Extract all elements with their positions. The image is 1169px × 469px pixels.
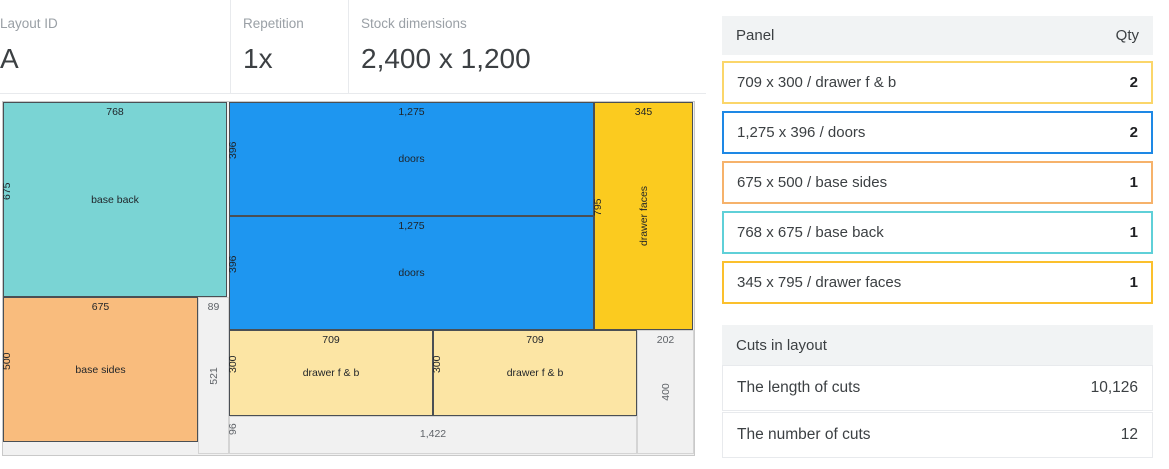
- layout-id-label: Layout ID: [0, 8, 230, 33]
- part-width-label: 768: [4, 106, 226, 118]
- part-name-label: base back: [4, 194, 226, 206]
- panel-qty: 2: [1130, 124, 1138, 141]
- layout-part-drawer-faces[interactable]: 345 795 drawer faces: [594, 102, 693, 330]
- panel-label: 709 x 300 / drawer f & b: [737, 74, 1130, 91]
- part-name-label: doors: [230, 153, 593, 165]
- part-width-label: 1,275: [230, 220, 593, 232]
- waste-width-label: 1,422: [230, 428, 636, 440]
- panel-row-doors[interactable]: 1,275 x 396 / doors 2: [722, 111, 1153, 154]
- repetition-label: Repetition: [243, 8, 348, 33]
- panel-label: 675 x 500 / base sides: [737, 174, 1130, 191]
- panel-table-header: Panel Qty: [722, 16, 1153, 55]
- waste-strip-1422-96: 1,422 96: [229, 416, 637, 454]
- stock-dimensions-label: Stock dimensions: [361, 8, 706, 33]
- layout-pane: Layout ID A Repetition 1x Stock dimensio…: [0, 0, 706, 469]
- panel-row-base-sides[interactable]: 675 x 500 / base sides 1: [722, 161, 1153, 204]
- panel-row-drawer-fb[interactable]: 709 x 300 / drawer f & b 2: [722, 61, 1153, 104]
- part-name-label: drawer f & b: [434, 367, 636, 379]
- cuts-number-value: 12: [1121, 426, 1138, 444]
- panel-label: 1,275 x 396 / doors: [737, 124, 1130, 141]
- summary-bar: Layout ID A Repetition 1x Stock dimensio…: [0, 0, 706, 94]
- cuts-length-label: The length of cuts: [737, 379, 1091, 397]
- panel-qty: 1: [1130, 224, 1138, 241]
- cuts-table-header: Cuts in layout: [722, 325, 1153, 365]
- part-width-label: 345: [595, 106, 692, 118]
- waste-height-label: 96: [227, 423, 239, 435]
- part-name-label: base sides: [4, 364, 197, 376]
- cutting-layout-diagram: 768 675 base back 1,275 396 doors 1,275 …: [2, 101, 695, 456]
- part-width-label: 709: [434, 334, 636, 346]
- panel-column-header: Panel: [736, 27, 1116, 44]
- panel-qty: 1: [1130, 274, 1138, 291]
- panel-label: 768 x 675 / base back: [737, 224, 1130, 241]
- qty-column-header: Qty: [1116, 27, 1139, 44]
- summary-repetition: Repetition 1x: [230, 0, 348, 93]
- part-width-label: 675: [4, 301, 197, 313]
- panel-row-drawer-faces[interactable]: 345 x 795 / drawer faces 1: [722, 261, 1153, 304]
- part-height-label: 795: [592, 198, 604, 216]
- summary-layout-id: Layout ID A: [0, 0, 230, 93]
- part-name-label: drawer f & b: [230, 367, 432, 379]
- part-width-label: 709: [230, 334, 432, 346]
- cuts-row-length[interactable]: The length of cuts 10,126: [722, 365, 1153, 411]
- cuts-row-number[interactable]: The number of cuts 12: [722, 412, 1153, 458]
- cuts-number-label: The number of cuts: [737, 426, 1121, 444]
- panel-qty: 1: [1130, 174, 1138, 191]
- layout-report-screen: Layout ID A Repetition 1x Stock dimensio…: [0, 0, 1169, 469]
- layout-part-base-back[interactable]: 768 675 base back: [3, 102, 227, 297]
- layout-part-drawer-fb-left[interactable]: 709 300 drawer f & b: [229, 330, 433, 416]
- details-pane: Panel Qty 709 x 300 / drawer f & b 2 1,2…: [706, 0, 1169, 469]
- cuts-length-value: 10,126: [1091, 379, 1138, 397]
- waste-width-label: 89: [199, 301, 228, 313]
- part-name-label: drawer faces: [638, 186, 650, 246]
- repetition-value: 1x: [243, 33, 348, 79]
- part-width-label: 1,275: [230, 106, 593, 118]
- waste-strip-202-400: 202 400: [637, 330, 694, 454]
- waste-strip-89-521: 89 521: [198, 297, 229, 454]
- waste-height-label: 521: [208, 367, 220, 385]
- panel-qty: 2: [1130, 74, 1138, 91]
- stock-dimensions-value: 2,400 x 1,200: [361, 33, 706, 79]
- waste-height-label: 400: [660, 383, 672, 401]
- panel-label: 345 x 795 / drawer faces: [737, 274, 1130, 291]
- summary-stock-dimensions: Stock dimensions 2,400 x 1,200: [348, 0, 706, 93]
- layout-part-doors-bottom[interactable]: 1,275 396 doors: [229, 216, 594, 330]
- layout-part-doors-top[interactable]: 1,275 396 doors: [229, 102, 594, 216]
- layout-part-drawer-fb-right[interactable]: 709 300 drawer f & b: [433, 330, 637, 416]
- part-name-label: doors: [230, 267, 593, 279]
- layout-id-value: A: [0, 33, 230, 79]
- panel-row-base-back[interactable]: 768 x 675 / base back 1: [722, 211, 1153, 254]
- cuts-in-layout-label: Cuts in layout: [736, 337, 1139, 354]
- waste-width-label: 202: [638, 334, 693, 346]
- layout-part-base-sides[interactable]: 675 500 base sides: [3, 297, 198, 442]
